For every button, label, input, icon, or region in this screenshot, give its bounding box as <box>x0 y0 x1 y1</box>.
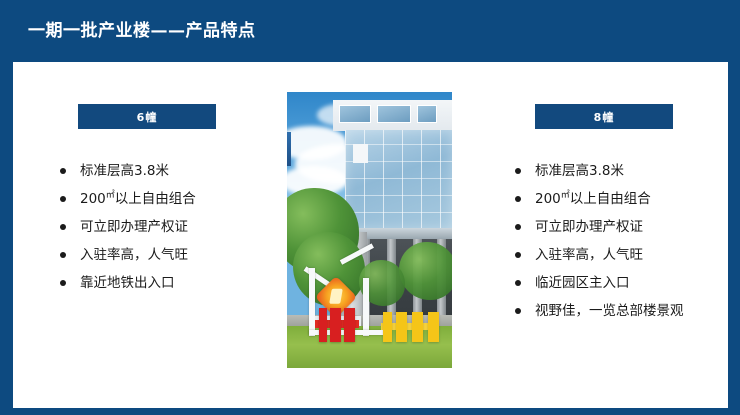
list-item-label-superscript: ㎡ <box>561 191 570 201</box>
list-item-label: 入驻率高，人气旺 <box>535 247 643 263</box>
list-item: 200㎡以上自由组合 <box>58 185 273 213</box>
list-item-label-suffix: 以上自由组合 <box>115 191 196 207</box>
feature-list-left: 标准层高3.8米 200㎡以上自由组合 可立即办理产权证 入驻率高，人气旺 靠近… <box>58 157 273 297</box>
list-item: 可立即办理产权证 <box>58 213 273 241</box>
bullet-dot-icon <box>515 196 521 202</box>
badge-building-6: 6幢 <box>78 104 216 129</box>
list-item-label: 可立即办理产权证 <box>535 219 643 235</box>
list-item: 入驻率高，人气旺 <box>513 241 715 269</box>
bullet-dot-icon <box>515 168 521 174</box>
list-item-label: 可立即办理产权证 <box>80 219 188 235</box>
photo-window <box>377 105 411 123</box>
list-item-label-prefix: 200 <box>535 191 561 207</box>
photo-window <box>339 105 371 123</box>
building-photo <box>287 92 452 368</box>
photo-building-parapet <box>333 100 452 131</box>
photo-glass-highlight <box>353 144 368 163</box>
slide-root: 一期一批产业楼——产品特点 6幢 标准层高3.8米 200㎡以上自由组合 可立即… <box>0 0 740 415</box>
list-item-label: 入驻率高，人气旺 <box>80 247 188 263</box>
bullet-dot-icon <box>60 224 66 230</box>
list-item: 标准层高3.8米 <box>58 157 273 185</box>
list-item-label-prefix: 200 <box>80 191 106 207</box>
list-item: 200㎡以上自由组合 <box>513 185 715 213</box>
bullet-dot-icon <box>60 196 66 202</box>
bullet-dot-icon <box>60 280 66 286</box>
list-item-label: 标准层高3.8米 <box>535 163 624 179</box>
photo-emblem-inner <box>329 289 343 304</box>
list-item: 视野佳，一览总部楼景观 <box>513 297 715 325</box>
photo-window <box>417 105 437 123</box>
list-item-label: 标准层高3.8米 <box>80 163 169 179</box>
column-right: 8幢 标准层高3.8米 200㎡以上自由组合 可立即办理产权证 入驻率高，人气旺 <box>500 62 715 325</box>
photo-blue-panel <box>287 132 291 166</box>
bullet-dot-icon <box>60 252 66 258</box>
list-item: 标准层高3.8米 <box>513 157 715 185</box>
page-title: 一期一批产业楼——产品特点 <box>28 19 256 43</box>
column-left: 6幢 标准层高3.8米 200㎡以上自由组合 可立即办理产权证 入驻率高，人气旺 <box>58 62 273 297</box>
list-item-label: 视野佳，一览总部楼景观 <box>535 303 684 319</box>
list-item: 临近园区主入口 <box>513 269 715 297</box>
list-item: 入驻率高，人气旺 <box>58 241 273 269</box>
bullet-dot-icon <box>60 168 66 174</box>
photo-sign-post <box>363 278 369 336</box>
bullet-dot-icon <box>515 252 521 258</box>
feature-list-right: 标准层高3.8米 200㎡以上自由组合 可立即办理产权证 入驻率高，人气旺 临近… <box>513 157 715 325</box>
photo-red-characters <box>317 308 357 342</box>
list-item-label-suffix: 以上自由组合 <box>570 191 651 207</box>
list-item: 可立即办理产权证 <box>513 213 715 241</box>
list-item: 靠近地铁出入口 <box>58 269 273 297</box>
photo-yellow-characters <box>383 312 439 342</box>
badge-building-8: 8幢 <box>535 104 673 129</box>
slide-content-area: 6幢 标准层高3.8米 200㎡以上自由组合 可立即办理产权证 入驻率高，人气旺 <box>13 62 728 408</box>
list-item-label: 临近园区主入口 <box>535 275 630 291</box>
bullet-dot-icon <box>515 280 521 286</box>
list-item-label-superscript: ㎡ <box>106 191 115 201</box>
list-item-label: 靠近地铁出入口 <box>80 275 175 291</box>
bullet-dot-icon <box>515 308 521 314</box>
bullet-dot-icon <box>515 224 521 230</box>
